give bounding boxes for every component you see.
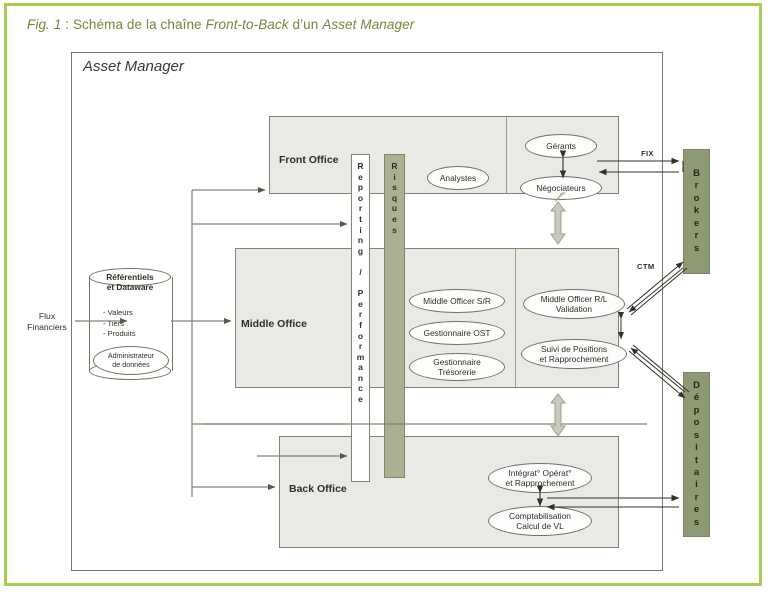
band-reporting-letter-2: p (358, 182, 363, 193)
node-gestionnaire-tresorerie: Gestionnaire Trésorerie (409, 353, 505, 381)
node-gerants: Gérants (525, 134, 597, 158)
band-risques-letter-5: e (392, 214, 397, 225)
protocol-label-fix: FIX (641, 149, 654, 158)
depositaires-letter-1: é (694, 392, 699, 404)
brokers-letter-1: r (695, 180, 699, 192)
caption-figure-number: Fig. 1 (27, 17, 61, 32)
band-reporting-letter-11 (359, 278, 361, 289)
datastore-items: - Valeurs - Tiers - Produits (103, 308, 136, 340)
datastore-item-valeurs: - Valeurs (103, 308, 136, 319)
band-risques-letter-0: R (391, 161, 397, 172)
protocol-label-ctm: CTM (637, 262, 655, 271)
band-reporting-performance: Reporting / Performance (351, 154, 370, 482)
band-risques-letter-4: u (392, 203, 397, 214)
node-administrateur-donnees: Administrateur de données (93, 346, 169, 375)
node-analystes-label: Analystes (440, 173, 476, 183)
counterparty-depositaires: Dépositaires (683, 372, 710, 537)
node-negociateurs: Négociateurs (520, 176, 602, 200)
counterparty-brokers: Brokers (683, 149, 710, 274)
node-integration-label-2: et Rapprochement (506, 478, 575, 488)
caption-separator: : (61, 17, 73, 32)
middle-office-label: Middle Office (241, 318, 307, 330)
node-integration-label-1: Intégrat° Opérat° (508, 468, 571, 478)
datastore-item-produits: - Produits (103, 329, 136, 340)
node-comptabilisation-label-2: Calcul de VL (516, 521, 564, 531)
front-office-splitter (506, 117, 507, 193)
node-negociateurs-label: Négociateurs (536, 183, 585, 193)
node-gestionnaire-tresorerie-label-2: Trésorerie (438, 367, 476, 377)
band-reporting-letter-7: n (358, 235, 363, 246)
datastore-title: Référentiels et Dataware (89, 272, 171, 292)
depositaires-letter-8: i (695, 479, 698, 491)
datastore-item-tiers: - Tiers (103, 319, 136, 330)
brokers-letter-5: r (695, 230, 699, 242)
flux-line-2: Financiers (27, 322, 67, 332)
node-suivi-positions-label-2: et Rapprochement (540, 354, 609, 364)
band-reporting-letter-9 (359, 256, 361, 267)
brokers-letter-2: o (694, 193, 700, 205)
node-gerants-label: Gérants (546, 141, 576, 151)
band-reporting-letter-22: e (358, 394, 363, 405)
node-middle-officer-sr-label: Middle Officer S/R (423, 296, 491, 306)
band-reporting-letter-12: P (358, 288, 364, 299)
band-reporting-letter-0: R (357, 161, 363, 172)
band-reporting-letter-16: o (358, 331, 363, 342)
caption-text-d: Asset Manager (322, 17, 414, 32)
band-reporting-letter-1: e (358, 172, 363, 183)
band-reporting-letter-17: r (359, 341, 362, 352)
band-reporting-letter-10: / (359, 267, 361, 278)
datastore-title-line-2: et Dataware (107, 282, 154, 292)
node-gestionnaire-ost: Gestionnaire OST (409, 321, 505, 345)
depositaires-letter-2: p (694, 405, 700, 417)
band-reporting-letter-14: r (359, 309, 362, 320)
depositaires-letter-0: D (693, 380, 700, 392)
node-analystes: Analystes (427, 166, 489, 190)
band-risques-letter-1: i (393, 172, 395, 183)
back-office-label: Back Office (289, 483, 347, 495)
band-reporting-letter-4: r (359, 203, 362, 214)
depositaires-letter-5: i (695, 442, 698, 454)
node-suivi-positions-label-1: Suivi de Positions (541, 344, 607, 354)
caption-text-a: Schéma de la chaîne (73, 17, 206, 32)
flux-line-1: Flux (39, 311, 55, 321)
band-risques-letter-3: q (392, 193, 397, 204)
depositaires-letter-3: o (694, 417, 700, 429)
brokers-letter-4: e (694, 218, 699, 230)
front-office-label: Front Office (279, 154, 339, 166)
figure-caption: Fig. 1 : Schéma de la chaîne Front-to-Ba… (27, 17, 414, 32)
node-middle-officer-rl-label-2: Validation (556, 304, 592, 314)
administrateur-label-2: de données (112, 360, 150, 369)
band-risques-letter-2: s (392, 182, 397, 193)
node-gestionnaire-ost-label: Gestionnaire OST (423, 328, 490, 338)
brokers-letter-0: B (693, 168, 700, 180)
band-reporting-letter-20: n (358, 373, 363, 384)
band-risques-letter-6: s (392, 225, 397, 236)
band-reporting-letter-6: i (359, 225, 361, 236)
band-reporting-letter-3: o (358, 193, 363, 204)
asset-manager-title: Asset Manager (83, 58, 184, 75)
caption-text-c: d’un (289, 17, 323, 32)
band-reporting-letter-21: c (358, 383, 363, 394)
depositaires-letter-10: e (694, 504, 699, 516)
node-middle-officer-rl-validation: Middle Officer R/L Validation (523, 289, 625, 319)
datastore-title-line-1: Référentiels (106, 272, 154, 282)
depositaires-letter-6: t (695, 455, 698, 467)
flux-financiers-label: Flux Financiers (19, 311, 75, 333)
caption-text-b: Front-to-Back (206, 17, 289, 32)
brokers-letter-6: s (694, 243, 699, 255)
figure-frame: Fig. 1 : Schéma de la chaîne Front-to-Ba… (4, 3, 762, 586)
depositaires-letter-9: r (695, 492, 699, 504)
node-middle-officer-rl-label-1: Middle Officer R/L (541, 294, 608, 304)
band-reporting-letter-19: a (358, 362, 363, 373)
band-reporting-letter-8: g (358, 246, 363, 257)
depositaires-letter-7: a (694, 467, 699, 479)
node-suivi-positions-rapprochement: Suivi de Positions et Rapprochement (521, 339, 627, 369)
depositaires-letter-4: s (694, 430, 699, 442)
node-comptabilisation-calcul-vl: Comptabilisation Calcul de VL (488, 506, 592, 536)
brokers-letter-3: k (694, 205, 699, 217)
node-comptabilisation-label-1: Comptabilisation (509, 511, 571, 521)
band-risques: Risques (384, 154, 405, 478)
node-middle-officer-sr: Middle Officer S/R (409, 289, 505, 313)
band-reporting-letter-15: f (359, 320, 362, 331)
band-reporting-letter-18: m (357, 352, 365, 363)
band-reporting-letter-5: t (359, 214, 362, 225)
band-reporting-letter-13: e (358, 299, 363, 310)
middle-office-splitter (515, 249, 516, 387)
node-gestionnaire-tresorerie-label-1: Gestionnaire (433, 357, 481, 367)
node-integration-operations-rapprochement: Intégrat° Opérat° et Rapprochement (488, 463, 592, 493)
depositaires-letter-11: s (694, 517, 699, 529)
